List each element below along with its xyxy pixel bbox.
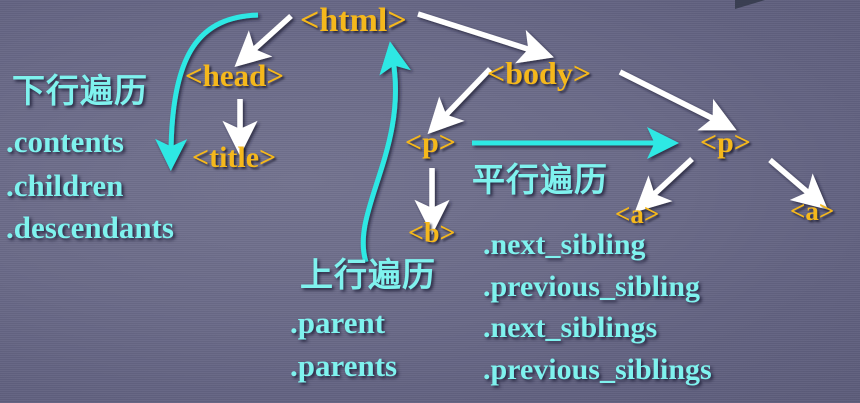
sideways-item-next-siblings: .next_siblings <box>483 313 657 343</box>
sideways-item-previous-siblings: .previous_siblings <box>483 355 712 385</box>
arrow-html-to-head <box>250 16 291 53</box>
tree-node-html[interactable]: <html> <box>300 4 407 38</box>
sideways-item-previous-sibling: .previous_sibling <box>483 272 700 302</box>
tree-node-head[interactable]: <head> <box>185 60 284 91</box>
descend-heading: 下行遍历 <box>12 74 148 107</box>
descend-item-children: .children <box>6 170 123 201</box>
arrow-p-right-to-a-left <box>650 159 692 198</box>
arrow-html-to-body <box>418 14 534 51</box>
tree-node-p-right[interactable]: <p> <box>700 128 751 158</box>
ascend-item-parents: .parents <box>290 350 397 381</box>
arrow-p-right-to-a-right <box>770 160 812 196</box>
tree-node-a-left[interactable]: <a> <box>615 201 659 228</box>
tree-node-p-left[interactable]: <p> <box>405 128 456 158</box>
descend-item-contents: .contents <box>6 126 124 157</box>
ascend-heading: 上行遍历 <box>300 258 436 291</box>
arrow-body-to-p-left <box>442 69 490 119</box>
tree-node-title[interactable]: <title> <box>192 143 276 173</box>
slide-canvas: <html> <head> <title> <body> <p> <b> <p>… <box>0 0 860 403</box>
tree-node-a-right[interactable]: <a> <box>790 198 834 225</box>
arrow-body-to-p-right <box>620 72 718 121</box>
arrow-ascend-curve <box>363 60 395 262</box>
corner-triangle-decoration <box>735 0 765 9</box>
tree-node-body[interactable]: <body> <box>487 57 591 89</box>
ascend-item-parent: .parent <box>290 307 385 338</box>
descend-item-descendants: .descendants <box>6 212 174 243</box>
arrow-layer <box>0 0 860 403</box>
sideways-heading: 平行遍历 <box>472 163 608 196</box>
tree-node-b[interactable]: <b> <box>408 220 455 248</box>
sideways-item-next-sibling: .next_sibling <box>483 230 646 260</box>
